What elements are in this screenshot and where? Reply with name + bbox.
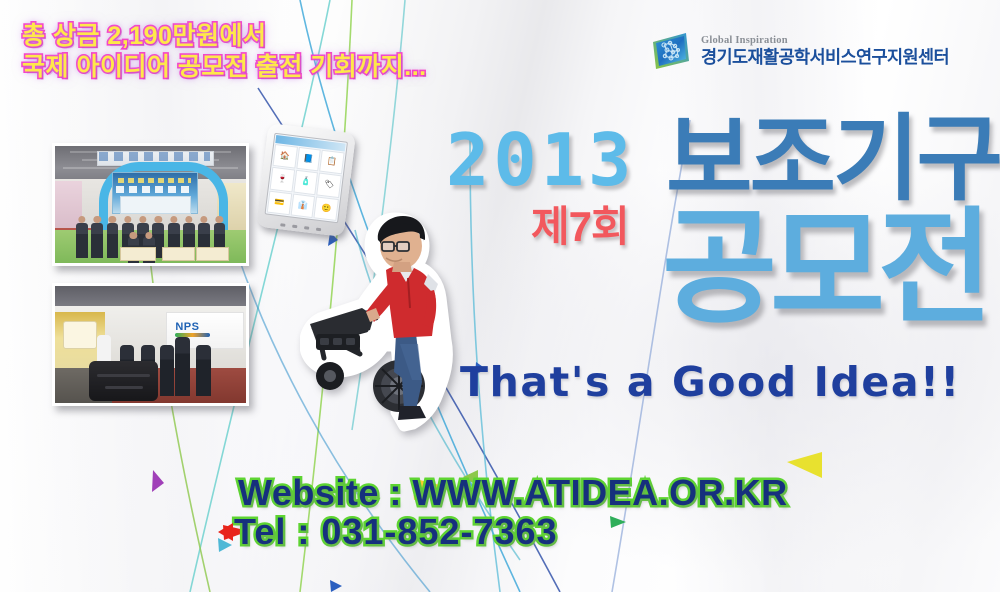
logo-name-korean: 경기도재활공학서비스연구지원센터 — [701, 49, 949, 67]
logo-tagline-english: Global Inspiration — [701, 36, 949, 47]
title-ordinal: 제7회 — [531, 206, 629, 248]
tel-arrow-icon — [218, 523, 233, 541]
tablet-app-icon[interactable]: 🧴 — [293, 170, 318, 195]
website-line[interactable]: Website : WWW.ATIDEA.OR.KR — [238, 472, 788, 514]
photo-award-ceremony — [52, 143, 249, 266]
logo-mark-icon — [650, 30, 692, 72]
nps-logo-text: NPS — [175, 321, 199, 333]
title-year: 2013 — [446, 124, 635, 196]
photo-exhibition-booth: NPS — [52, 283, 249, 406]
promotional-poster: 총 상금 2,190만원에서 국제 아이디어 공모전 출전 기회까지... — [0, 0, 1000, 592]
tablet-screen: 🏠 📘 📋 🍷 🧴 🏷 💳 👔 🙂 — [265, 133, 348, 223]
organization-logo: Global Inspiration 경기도재활공학서비스연구지원센터 — [650, 30, 949, 72]
tablet-app-icon[interactable]: 💳 — [267, 190, 292, 215]
headline-line-2: 국제 아이디어 공모전 출전 기회까지... — [22, 52, 427, 83]
headline-line-1: 총 상금 2,190만원에서 — [22, 21, 427, 52]
telephone-line: Tel : 031-852-7363 — [234, 511, 558, 553]
walker-user-cutout — [300, 212, 475, 440]
title-subject: 보조기구 — [666, 112, 1000, 206]
tablet-app-icon[interactable]: 🏠 — [272, 144, 297, 169]
headline: 총 상금 2,190만원에서 국제 아이디어 공모전 출전 기회까지... — [22, 21, 427, 83]
logo-text: Global Inspiration 경기도재활공학서비스연구지원센터 — [701, 36, 949, 67]
tagline: That's a Good Idea!! — [460, 358, 961, 406]
title-event: 공모전 — [662, 206, 986, 331]
tablet-app-icon[interactable]: 📘 — [296, 147, 321, 172]
tablet-app-icon[interactable]: 🏷 — [317, 173, 342, 198]
tablet-app-icon[interactable]: 🍷 — [270, 167, 295, 192]
tablet-app-icon[interactable]: 📋 — [319, 150, 344, 175]
